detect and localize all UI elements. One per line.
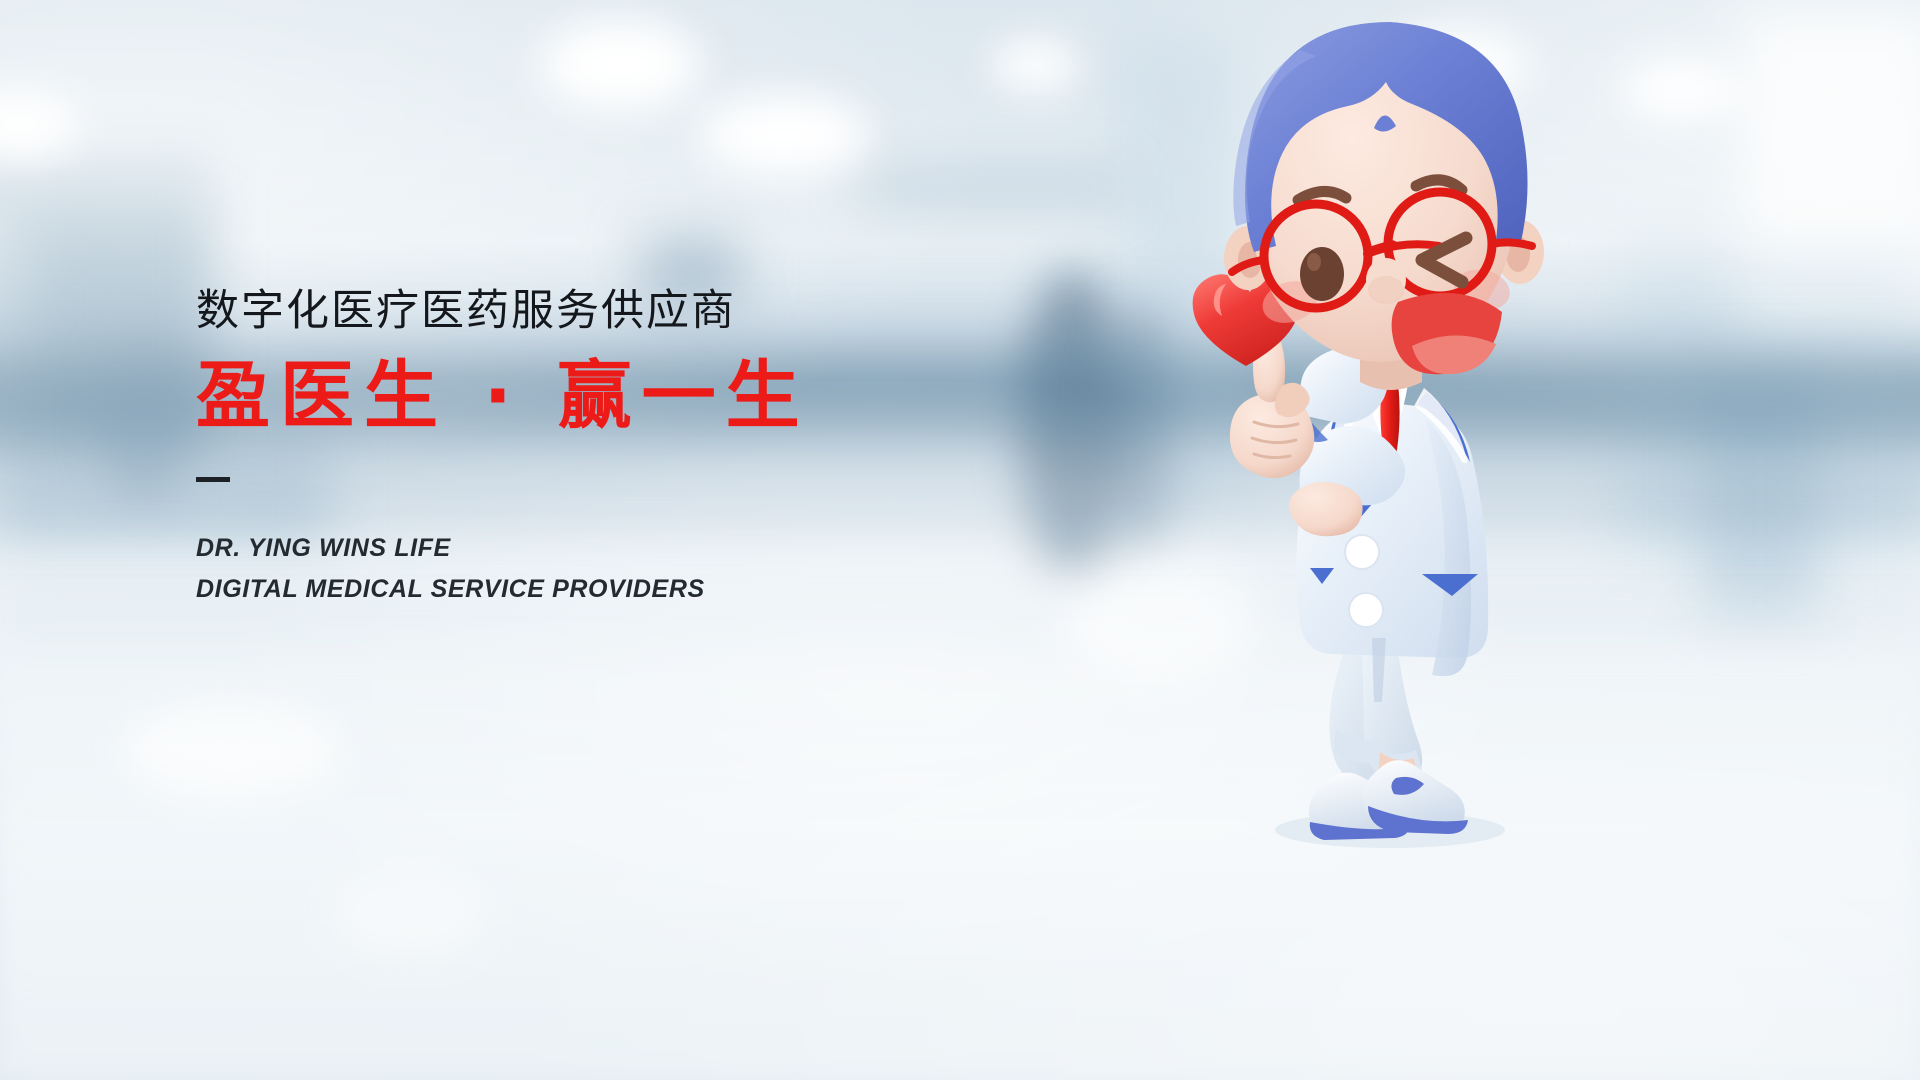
mascot-shoes <box>1309 760 1468 840</box>
doctor-mascot-illustration <box>1190 40 1610 850</box>
banner-subtitle-line-1: DR. YING WINS LIFE <box>196 528 956 569</box>
open-eye-highlight <box>1307 253 1321 271</box>
banner-divider <box>196 477 230 482</box>
glasses-temple-right <box>1492 242 1532 246</box>
banner-stage: 数字化医疗医药服务供应商 盈医生 · 赢一生 DR. YING WINS LIF… <box>0 0 1920 1080</box>
banner-copy: 数字化医疗医药服务供应商 盈医生 · 赢一生 DR. YING WINS LIF… <box>196 288 956 609</box>
banner-headline: 盈医生 · 赢一生 <box>196 357 956 437</box>
banner-kicker: 数字化医疗医药服务供应商 <box>196 288 956 335</box>
banner-subtitle: DR. YING WINS LIFE DIGITAL MEDICAL SERVI… <box>196 528 956 609</box>
nose-shade <box>1368 276 1404 304</box>
banner-subtitle-line-2: DIGITAL MEDICAL SERVICE PROVIDERS <box>196 569 956 610</box>
mascot-lab-coat <box>1296 380 1488 702</box>
open-eye <box>1300 247 1344 301</box>
background-floor-reflection <box>0 620 1920 1080</box>
